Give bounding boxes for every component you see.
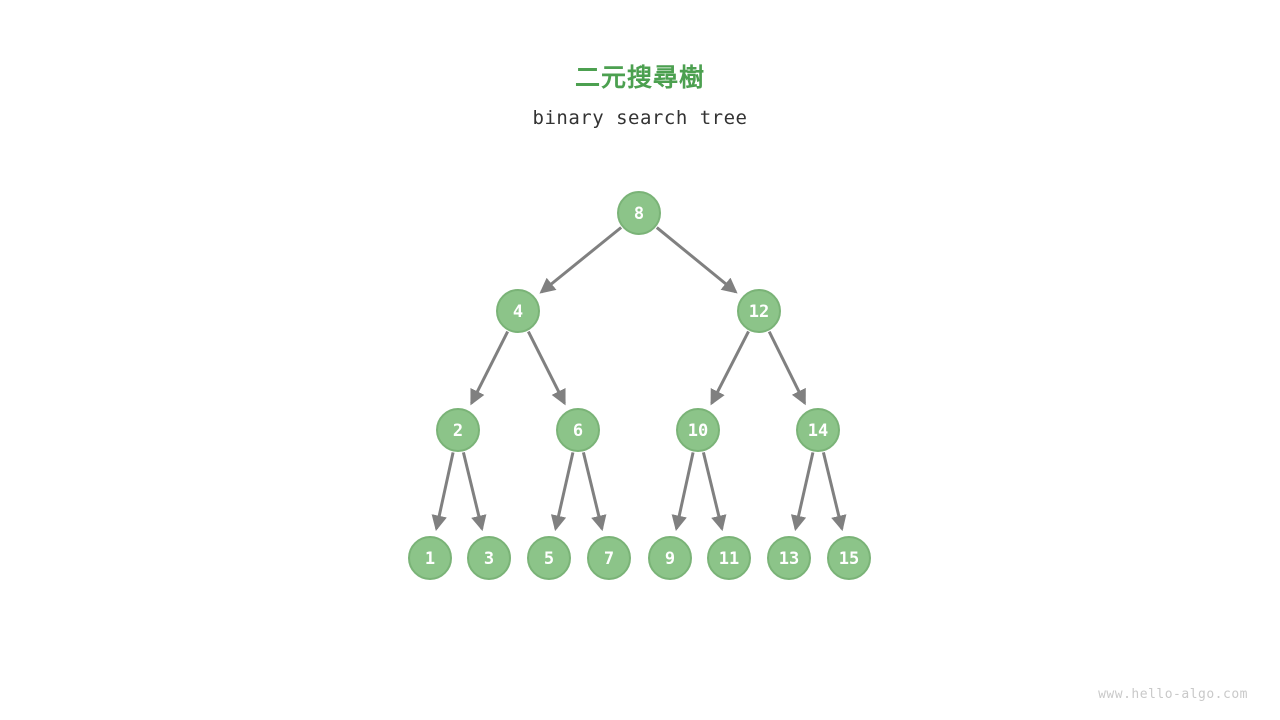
tree-node-label: 1 [425,549,435,569]
tree-edge [528,332,564,404]
tree-node-label: 10 [688,421,708,441]
tree-node-label: 15 [839,549,859,569]
tree-edge [657,228,736,292]
tree-node-label: 13 [779,549,799,569]
binary-search-tree-graphic: 841226101413579111315 [0,0,1280,720]
tree-edge [712,331,749,403]
tree-node-label: 12 [749,302,769,322]
tree-edge [769,332,804,404]
site-watermark: www.hello-algo.com [1098,687,1248,702]
tree-node-label: 7 [604,549,614,569]
tree-node[interactable]: 12 [738,290,780,332]
tree-node[interactable]: 3 [468,537,510,579]
diagram-canvas: 二元搜尋樹 binary search tree 841226101413579… [0,0,1280,720]
tree-node[interactable]: 11 [708,537,750,579]
tree-node-label: 6 [573,421,583,441]
tree-node[interactable]: 8 [618,192,660,234]
tree-node[interactable]: 5 [528,537,570,579]
tree-node-label: 8 [634,204,644,224]
tree-node[interactable]: 6 [557,409,599,451]
tree-edge [541,227,621,292]
tree-node-label: 4 [513,302,523,322]
tree-node[interactable]: 2 [437,409,479,451]
tree-edge [796,452,813,528]
tree-node-label: 11 [719,549,739,569]
tree-edge [823,452,842,528]
tree-node-label: 9 [665,549,675,569]
tree-node[interactable]: 9 [649,537,691,579]
tree-edges [436,227,842,528]
tree-node[interactable]: 10 [677,409,719,451]
tree-node[interactable]: 1 [409,537,451,579]
tree-node[interactable]: 13 [768,537,810,579]
tree-node[interactable]: 7 [588,537,630,579]
tree-edge [703,452,722,528]
tree-edge [436,452,453,528]
tree-node[interactable]: 4 [497,290,539,332]
tree-nodes: 841226101413579111315 [409,192,870,579]
tree-edge [556,452,573,528]
tree-node-label: 5 [544,549,554,569]
tree-edge [676,452,693,528]
tree-node-label: 3 [484,549,494,569]
tree-node[interactable]: 15 [828,537,870,579]
tree-edge [463,452,482,528]
tree-edge [472,332,508,404]
tree-edge [583,452,602,528]
tree-node[interactable]: 14 [797,409,839,451]
tree-node-label: 2 [453,421,463,441]
tree-node-label: 14 [808,421,828,441]
